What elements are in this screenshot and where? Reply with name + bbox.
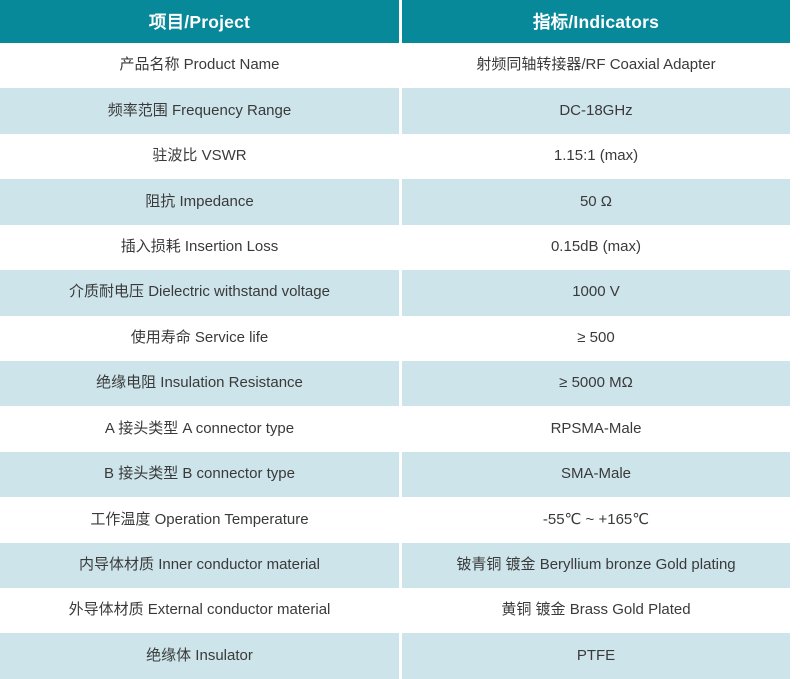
cell-project: 频率范围 Frequency Range	[0, 88, 399, 133]
column-header-project: 项目/Project	[0, 0, 399, 43]
cell-project: 绝缘电阻 Insulation Resistance	[0, 361, 399, 406]
cell-project: A 接头类型 A connector type	[0, 406, 399, 451]
cell-project: 阻抗 Impedance	[0, 179, 399, 224]
cell-project: 绝缘体 Insulator	[0, 633, 399, 678]
cell-indicator: ≥ 500	[402, 316, 790, 361]
table-row: 工作温度 Operation Temperature -55℃ ~ +165℃	[0, 497, 790, 542]
cell-indicator: SMA-Male	[402, 452, 790, 497]
cell-project: 插入损耗 Insertion Loss	[0, 225, 399, 270]
table-row: 阻抗 Impedance 50 Ω	[0, 179, 790, 224]
table-row: 产品名称 Product Name 射频同轴转接器/RF Coaxial Ada…	[0, 43, 790, 88]
cell-indicator: 1.15:1 (max)	[402, 134, 790, 179]
table-row: 介质耐电压 Dielectric withstand voltage 1000 …	[0, 270, 790, 315]
cell-indicator: RPSMA-Male	[402, 406, 790, 451]
cell-indicator: PTFE	[402, 633, 790, 678]
column-header-indicator: 指标/Indicators	[402, 0, 790, 43]
cell-indicator: DC-18GHz	[402, 88, 790, 133]
cell-indicator: 50 Ω	[402, 179, 790, 224]
table-body: 产品名称 Product Name 射频同轴转接器/RF Coaxial Ada…	[0, 43, 790, 679]
table-row: 绝缘体 Insulator PTFE	[0, 633, 790, 678]
table-row: 外导体材质 External conductor material 黄铜 镀金 …	[0, 588, 790, 633]
cell-indicator: 射频同轴转接器/RF Coaxial Adapter	[402, 43, 790, 88]
cell-project: 产品名称 Product Name	[0, 43, 399, 88]
cell-project: 内导体材质 Inner conductor material	[0, 543, 399, 588]
cell-project: 外导体材质 External conductor material	[0, 588, 399, 633]
table-row: 频率范围 Frequency Range DC-18GHz	[0, 88, 790, 133]
table-row: 绝缘电阻 Insulation Resistance ≥ 5000 MΩ	[0, 361, 790, 406]
cell-indicator: 铍青铜 镀金 Beryllium bronze Gold plating	[402, 543, 790, 588]
cell-indicator: 0.15dB (max)	[402, 225, 790, 270]
cell-indicator: 1000 V	[402, 270, 790, 315]
table-row: 使用寿命 Service life ≥ 500	[0, 316, 790, 361]
table-row: 内导体材质 Inner conductor material 铍青铜 镀金 Be…	[0, 543, 790, 588]
cell-indicator: ≥ 5000 MΩ	[402, 361, 790, 406]
cell-project: 工作温度 Operation Temperature	[0, 497, 399, 542]
table-row: B 接头类型 B connector type SMA-Male	[0, 452, 790, 497]
cell-project: 驻波比 VSWR	[0, 134, 399, 179]
cell-project: 使用寿命 Service life	[0, 316, 399, 361]
table-row: 驻波比 VSWR 1.15:1 (max)	[0, 134, 790, 179]
table-row: A 接头类型 A connector type RPSMA-Male	[0, 406, 790, 451]
cell-project: B 接头类型 B connector type	[0, 452, 399, 497]
specification-table: 项目/Project 指标/Indicators 产品名称 Product Na…	[0, 0, 790, 679]
cell-project: 介质耐电压 Dielectric withstand voltage	[0, 270, 399, 315]
cell-indicator: -55℃ ~ +165℃	[402, 497, 790, 542]
table-row: 插入损耗 Insertion Loss 0.15dB (max)	[0, 225, 790, 270]
cell-indicator: 黄铜 镀金 Brass Gold Plated	[402, 588, 790, 633]
table-header-row: 项目/Project 指标/Indicators	[0, 0, 790, 43]
